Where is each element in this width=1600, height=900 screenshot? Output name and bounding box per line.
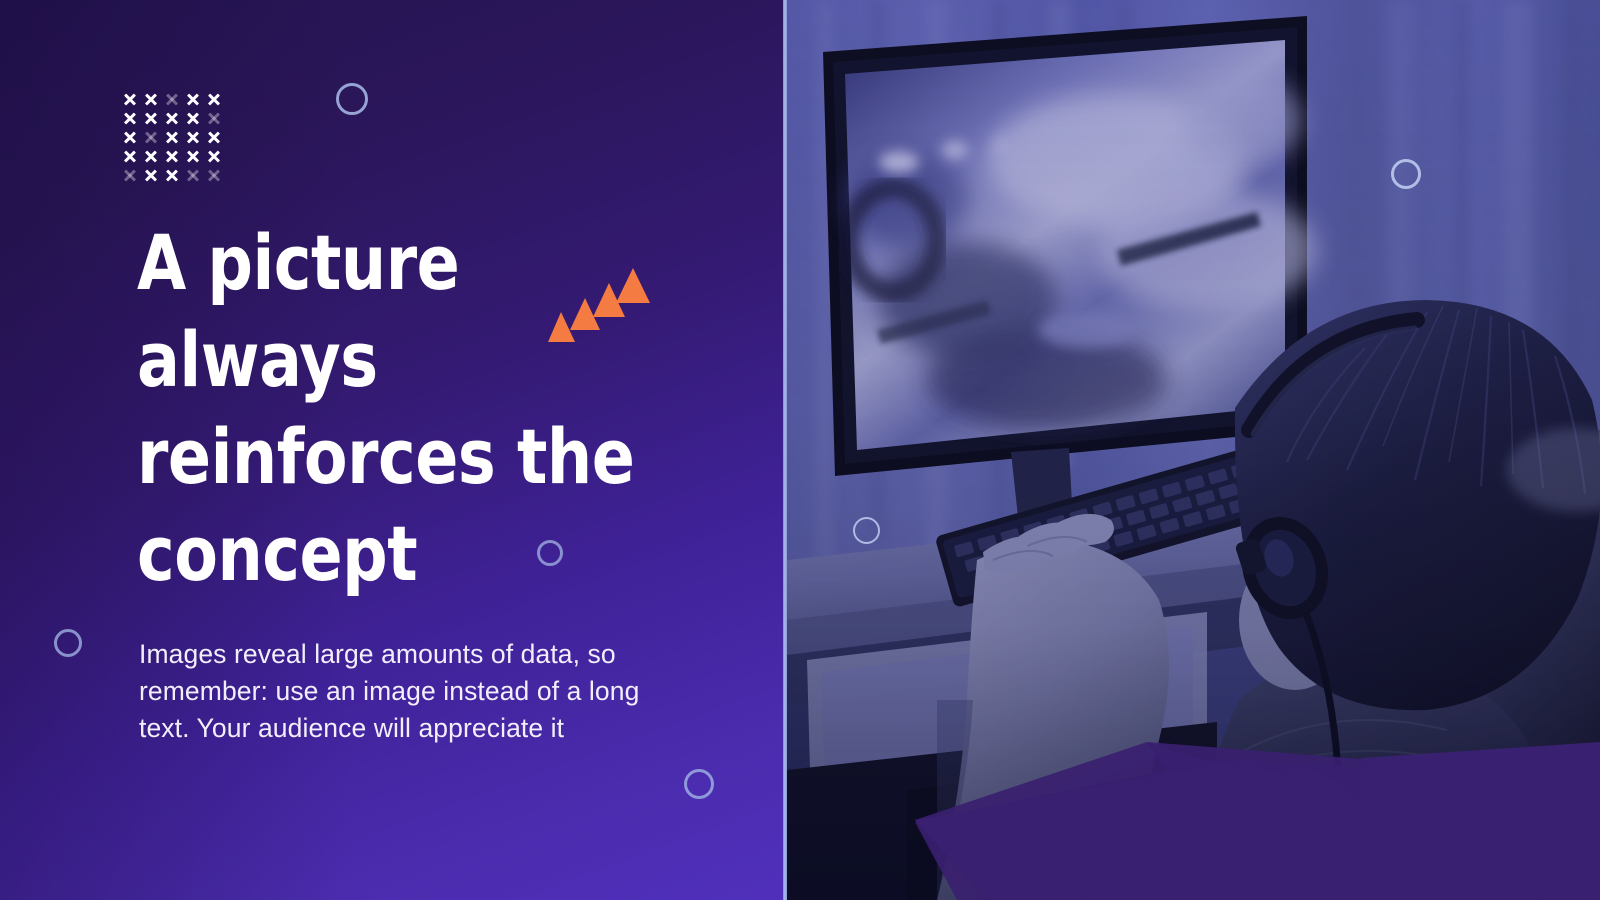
x-mark-icon	[120, 147, 141, 166]
ring-top-left	[336, 83, 368, 115]
x-mark-icon	[162, 109, 183, 128]
x-mark-icon	[183, 166, 204, 185]
presentation-slide: A picture always reinforces the concept …	[0, 0, 1600, 900]
x-mark-icon	[162, 128, 183, 147]
x-mark-icon	[141, 128, 162, 147]
x-mark-icon	[183, 109, 204, 128]
x-mark-icon	[204, 166, 225, 185]
slide-headline: A picture always reinforces the concept	[137, 214, 695, 602]
x-mark-icon	[120, 109, 141, 128]
ring-photo-left	[853, 517, 880, 544]
x-mark-icon	[204, 147, 225, 166]
x-mark-icon	[162, 147, 183, 166]
ring-left-edge	[54, 629, 82, 657]
x-mark-icon	[183, 128, 204, 147]
x-mark-icon	[162, 90, 183, 109]
ring-mid-left	[537, 540, 563, 566]
gamer-at-desk-photo	[787, 0, 1600, 900]
x-mark-icon	[204, 90, 225, 109]
x-mark-icon	[183, 147, 204, 166]
x-mark-icon	[204, 128, 225, 147]
x-mark-icon	[204, 109, 225, 128]
x-mark-icon	[141, 166, 162, 185]
photo-artwork	[787, 0, 1600, 900]
x-mark-grid-decoration	[120, 90, 225, 185]
x-mark-icon	[120, 90, 141, 109]
x-mark-icon	[141, 90, 162, 109]
left-content-panel: A picture always reinforces the concept …	[0, 0, 783, 900]
x-mark-icon	[120, 128, 141, 147]
ring-photo-right	[1391, 159, 1421, 189]
panel-divider	[783, 0, 787, 900]
x-mark-icon	[120, 166, 141, 185]
x-mark-icon	[162, 166, 183, 185]
x-mark-icon	[183, 90, 204, 109]
x-mark-icon	[141, 147, 162, 166]
ring-bottom-left	[684, 769, 714, 799]
slide-body-text: Images reveal large amounts of data, so …	[139, 636, 669, 747]
x-mark-icon	[141, 109, 162, 128]
